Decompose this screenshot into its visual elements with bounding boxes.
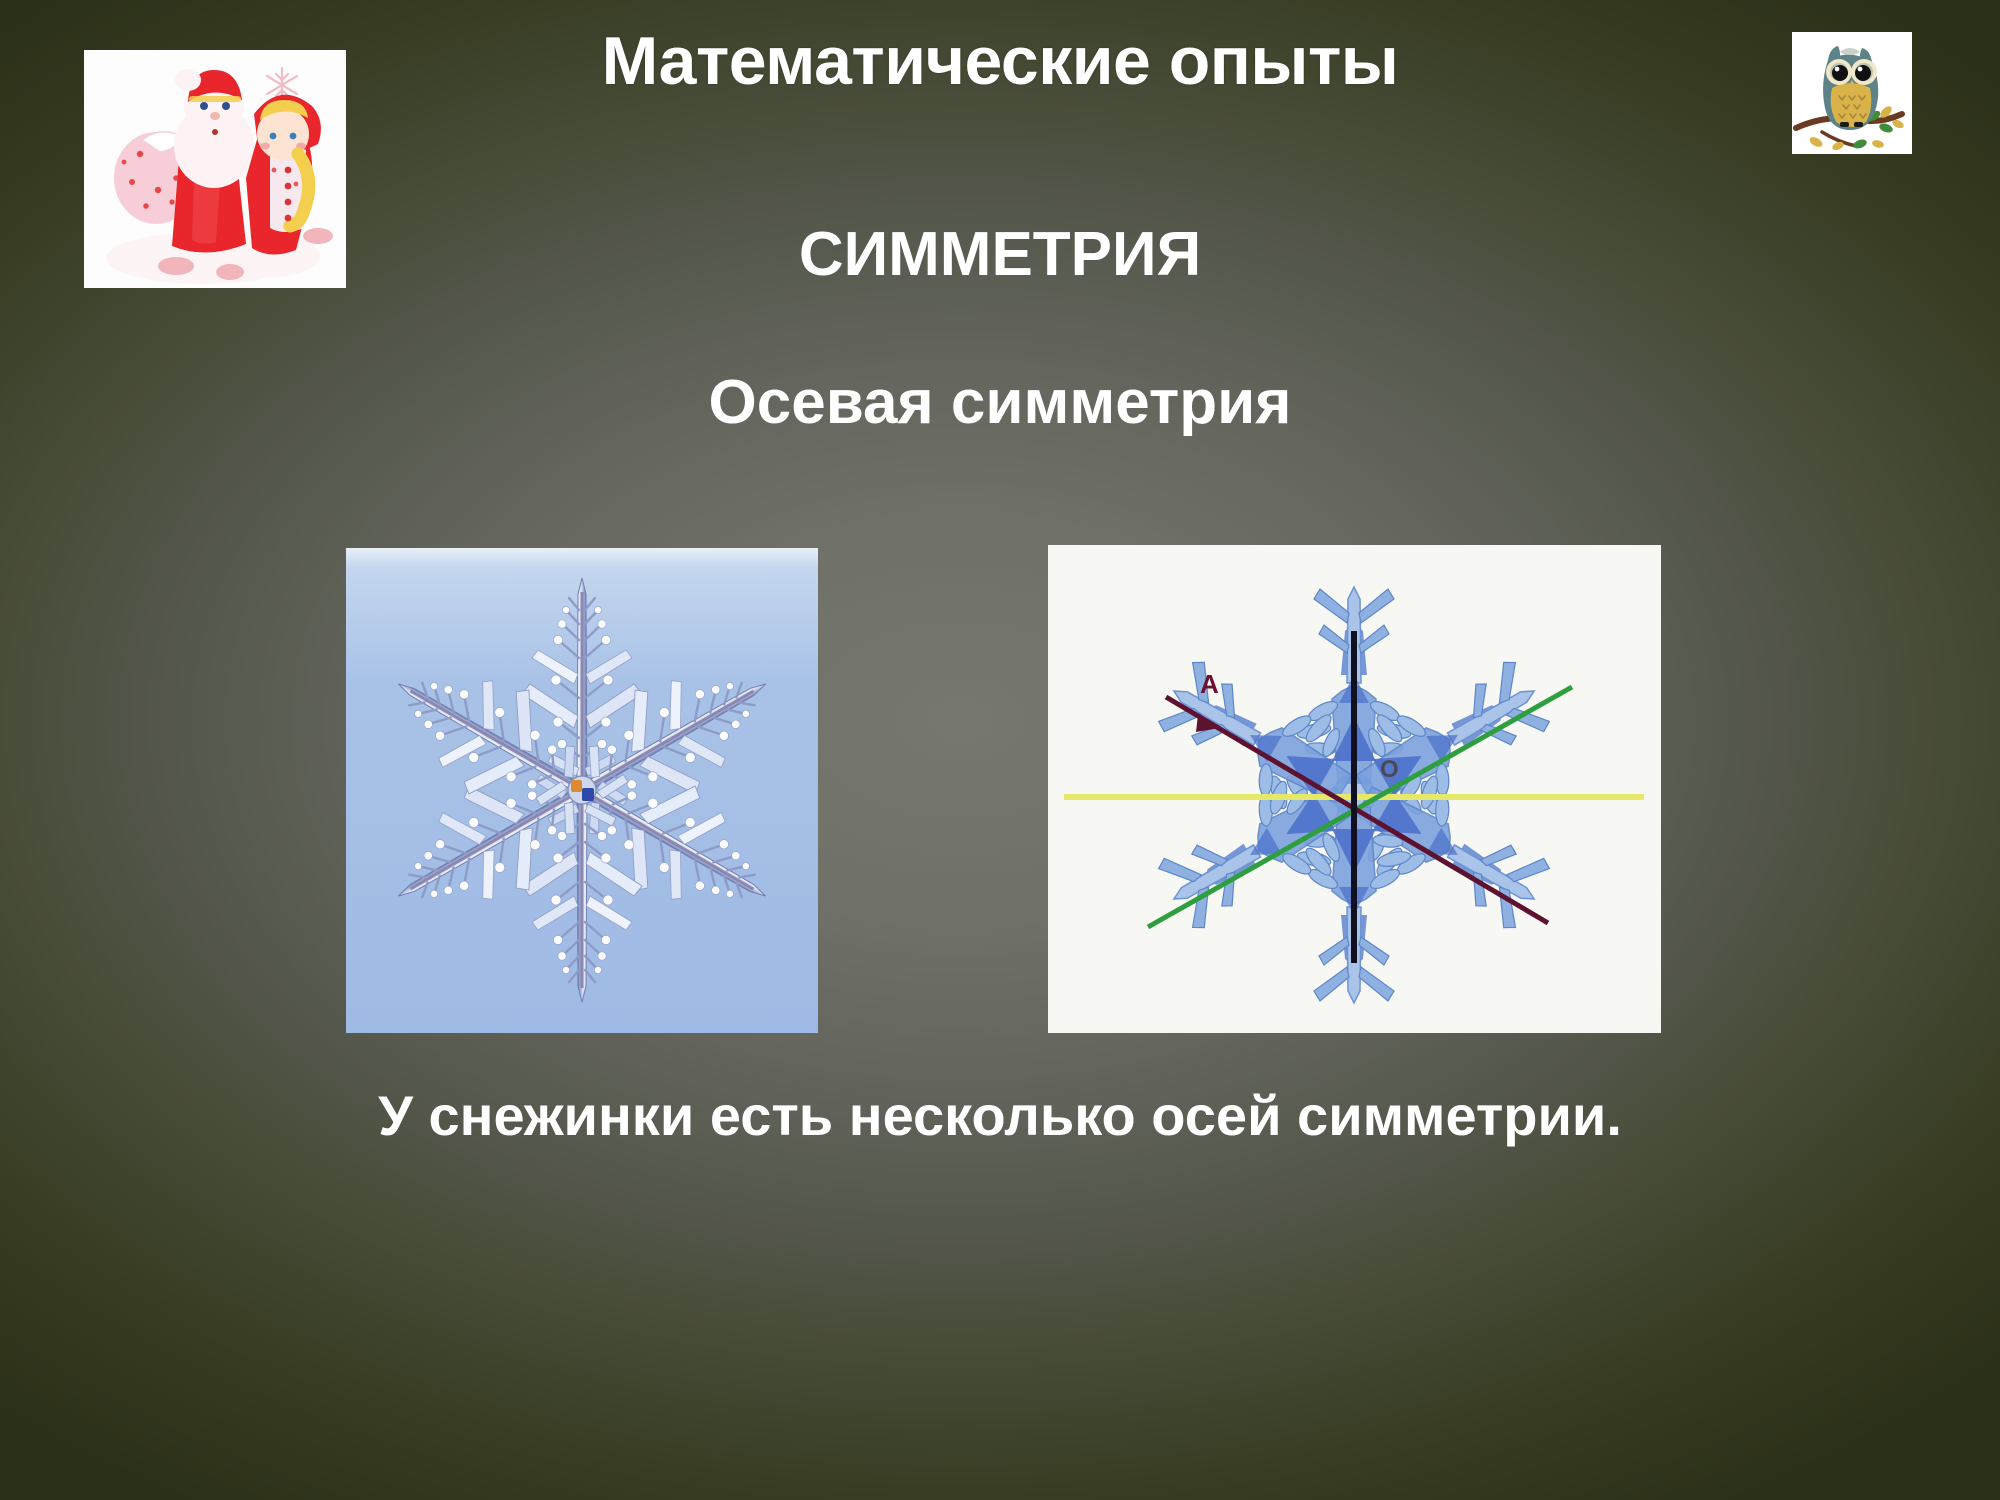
presentation-slide: Математические опыты СИММЕТРИЯ Осевая си… (0, 0, 2000, 1500)
owl-on-branch-illustration (1792, 32, 1912, 154)
point-label-a: A (1200, 669, 1219, 699)
slide-subtitle-axial-symmetry: Осевая симметрия (0, 370, 2000, 435)
snowflake-symmetry-diagram: A O (1048, 545, 1661, 1033)
owl-clipart (1792, 32, 1912, 154)
snowflake-photo (346, 548, 818, 1033)
snowflake-crystal-photo (346, 548, 818, 1033)
slide-subtitle-symmetry: СИММЕТРИЯ (0, 222, 2000, 287)
slide-caption: У снежинки есть несколько осей симметрии… (0, 1085, 2000, 1147)
snowflake-axes-illustration: A O (1048, 545, 1661, 1033)
point-label-o: O (1380, 756, 1399, 783)
slide-main-title: Математические опыты (0, 26, 2000, 97)
